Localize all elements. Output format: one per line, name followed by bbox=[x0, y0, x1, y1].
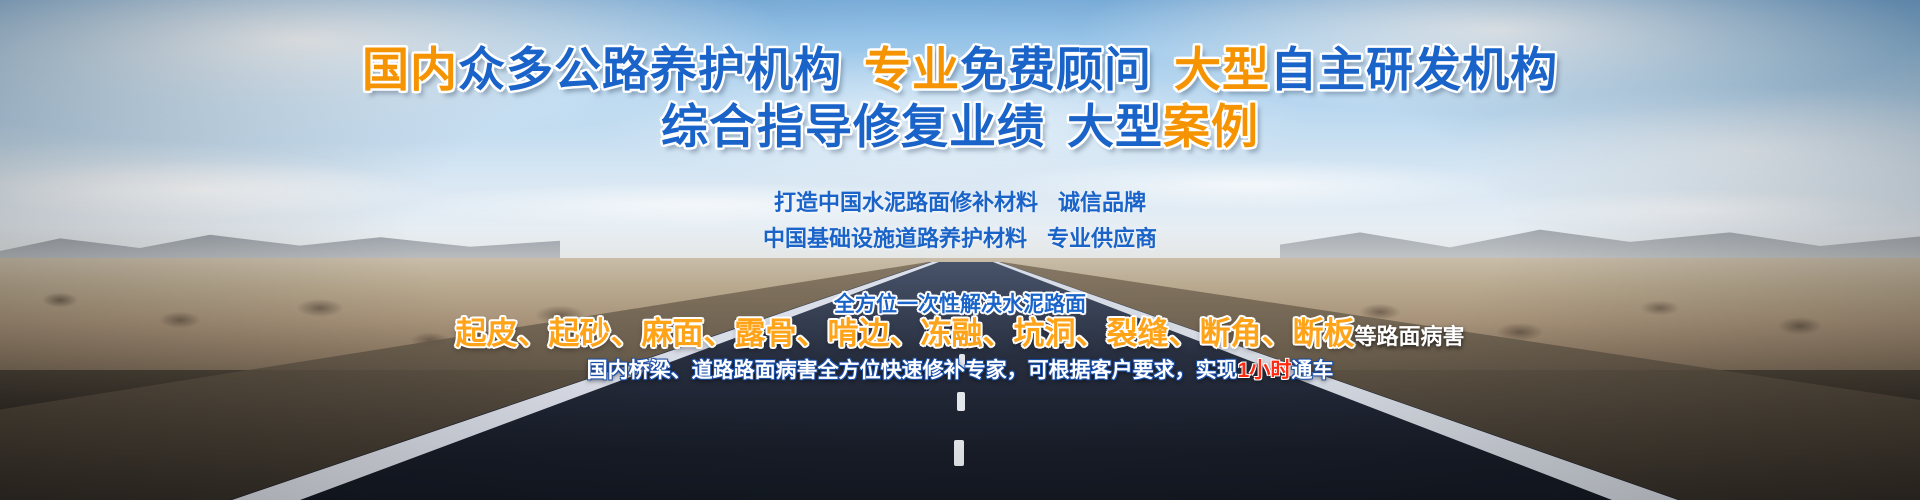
bottom-closing-line: 国内桥梁、道路路面病害全方位快速修补专家，可根据客户要求，实现1小时通车 bbox=[0, 360, 1920, 381]
bottom-title: 全方位一次性解决水泥路面 bbox=[0, 294, 1920, 315]
closing-text-a: 国内桥梁、道路路面病害全方位快速修补专家，可根据客户要求，实现 bbox=[587, 359, 1238, 382]
headline-line-1: 国内众多公路养护机构专业免费顾问大型自主研发机构 bbox=[0, 46, 1920, 93]
headline-seg-guonei: 国内 bbox=[362, 43, 458, 96]
defect-list-text: 起皮、起砂、麻面、露骨、啃边、冻融、坑洞、裂缝、断角、断板 bbox=[455, 316, 1354, 351]
headline-seg-zhongduo: 众多公路养护机构 bbox=[458, 43, 842, 96]
headline-seg-zhuanye: 专业 bbox=[864, 43, 960, 96]
headline-seg-anli: 案例 bbox=[1163, 100, 1259, 153]
subline-1-tag: 诚信品牌 bbox=[1058, 190, 1146, 215]
subline-1: 打造中国水泥路面修补材料诚信品牌 bbox=[0, 192, 1920, 214]
subline-2-tag: 专业供应商 bbox=[1047, 226, 1157, 251]
bottom-defect-list: 起皮、起砂、麻面、露骨、啃边、冻融、坑洞、裂缝、断角、断板等路面病害 bbox=[0, 318, 1920, 349]
promo-banner: 国内众多公路养护机构专业免费顾问大型自主研发机构 综合指导修复业绩大型案例 打造… bbox=[0, 0, 1920, 500]
subline-2: 中国基础设施道路养护材料专业供应商 bbox=[0, 228, 1920, 250]
subline-1-main: 打造中国水泥路面修补材料 bbox=[774, 190, 1038, 215]
headline-seg-daxing-2: 大型 bbox=[1067, 100, 1163, 153]
headline-seg-daxing: 大型 bbox=[1174, 43, 1270, 96]
closing-text-b: 通车 bbox=[1291, 359, 1333, 382]
headline-seg-zonghe: 综合指导修复业绩 bbox=[661, 100, 1045, 153]
closing-highlight-1hour: 1小时 bbox=[1238, 359, 1292, 382]
headline-seg-mianfei: 免费顾问 bbox=[960, 43, 1152, 96]
subline-2-main: 中国基础设施道路养护材料 bbox=[763, 226, 1027, 251]
headline-seg-zizhu: 自主研发机构 bbox=[1270, 43, 1558, 96]
headline-line-2: 综合指导修复业绩大型案例 bbox=[0, 103, 1920, 150]
defect-list-suffix: 等路面病害 bbox=[1354, 324, 1464, 349]
banner-text-content: 国内众多公路养护机构专业免费顾问大型自主研发机构 综合指导修复业绩大型案例 打造… bbox=[0, 0, 1920, 500]
